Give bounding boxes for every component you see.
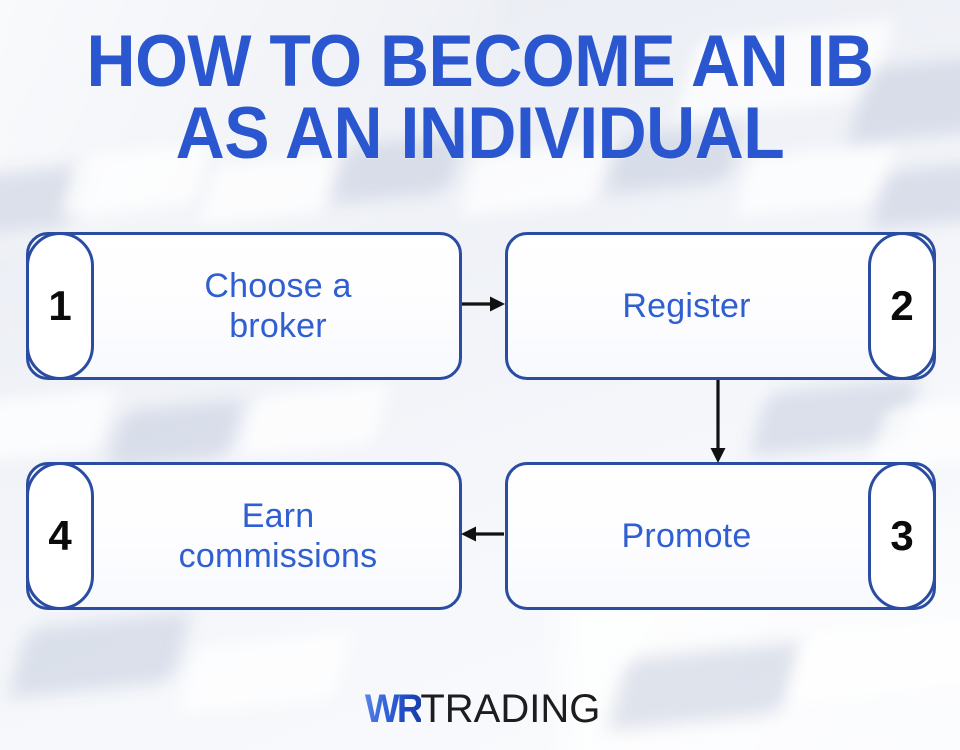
step-number-badge-4: 4	[26, 462, 94, 610]
step-number-2: 2	[890, 282, 913, 330]
step-box-2[interactable]: Register 2	[505, 232, 936, 380]
step-label-2: Register	[622, 286, 818, 326]
step-number-1: 1	[48, 282, 71, 330]
step-number-3: 3	[890, 512, 913, 560]
step-box-3[interactable]: Promote 3	[505, 462, 936, 610]
arrow-step3-to-step4-icon	[460, 519, 506, 549]
step-number-4: 4	[48, 512, 71, 560]
arrow-step1-to-step2-icon	[460, 289, 506, 319]
brand-logo: WRTRADING	[0, 687, 960, 732]
step-label-3: Promote	[622, 516, 820, 556]
step-number-badge-2: 2	[868, 232, 936, 380]
brand-logo-mark: WR	[365, 687, 421, 732]
brand-logo-word: TRADING	[420, 687, 600, 732]
step-number-badge-1: 1	[26, 232, 94, 380]
arrow-step2-to-step3-icon	[703, 378, 733, 464]
page-title: HOW TO BECOME AN IB AS AN INDIVIDUAL	[34, 26, 927, 171]
infographic-poster: HOW TO BECOME AN IB AS AN INDIVIDUAL 1 C…	[0, 0, 960, 750]
step-box-4[interactable]: 4 Earn commissions	[26, 462, 462, 610]
step-number-badge-3: 3	[868, 462, 936, 610]
step-label-1: Choose a broker	[136, 266, 351, 346]
step-box-1[interactable]: 1 Choose a broker	[26, 232, 462, 380]
step-label-4: Earn commissions	[111, 496, 378, 576]
